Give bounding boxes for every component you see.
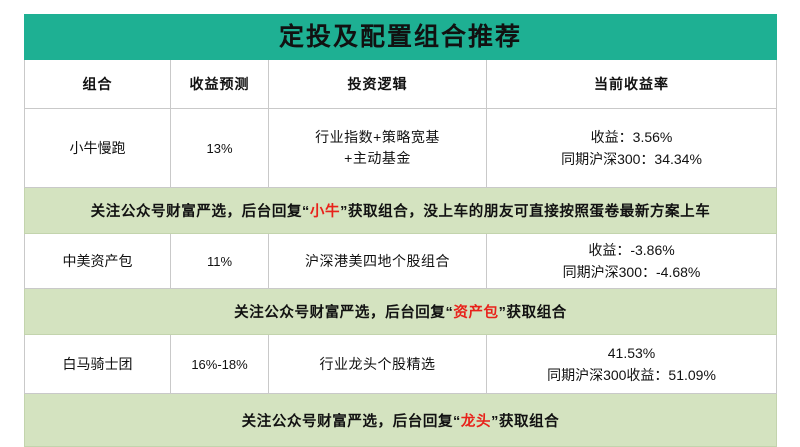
banner-keyword: 小牛 — [310, 204, 340, 220]
banner-row: 关注公众号财富严选，后台回复“资产包”获取组合 — [25, 289, 777, 335]
recommendation-table-container: 定投及配置组合推荐 组合 收益预测 投资逻辑 当前收益率 小牛慢跑 13% 行业… — [24, 14, 776, 447]
banner-row: 关注公众号财富严选，后台回复“小牛”获取组合，没上车的朋友可直接按照蛋卷最新方案… — [25, 188, 777, 234]
banner-row: 关注公众号财富严选，后台回复“龙头”获取组合 — [25, 394, 777, 447]
banner-keyword: 龙头 — [461, 414, 491, 430]
recommendation-table: 定投及配置组合推荐 组合 收益预测 投资逻辑 当前收益率 小牛慢跑 13% 行业… — [24, 14, 777, 447]
cell-current-yield: 收益：3.56% 同期沪深300：34.34% — [487, 109, 777, 188]
banner-prefix: 关注公众号财富严选，后台回复“ — [91, 204, 310, 220]
banner-suffix: ”获取组合 — [491, 414, 559, 430]
cell-logic: 行业指数+策略宽基 +主动基金 — [269, 109, 487, 188]
banner-prefix: 关注公众号财富严选，后台回复“ — [242, 414, 461, 430]
banner-prefix: 关注公众号财富严选，后台回复“ — [234, 305, 453, 321]
yield-line-2: 同期沪深300：34.34% — [487, 148, 776, 170]
table-row: 小牛慢跑 13% 行业指数+策略宽基 +主动基金 收益：3.56% 同期沪深30… — [25, 109, 777, 188]
yield-line-1: 41.53% — [487, 342, 776, 364]
cell-forecast: 13% — [171, 109, 269, 188]
banner-suffix: ”获取组合 — [499, 305, 567, 321]
banner-callout-2: 关注公众号财富严选，后台回复“资产包”获取组合 — [25, 289, 777, 335]
banner-suffix: ”获取组合，没上车的朋友可直接按照蛋卷最新方案上车 — [340, 204, 710, 220]
page-title: 定投及配置组合推荐 — [25, 15, 777, 60]
banner-keyword: 资产包 — [453, 305, 498, 321]
yield-line-2: 同期沪深300收益：51.09% — [487, 364, 776, 386]
cell-logic: 行业龙头个股精选 — [269, 335, 487, 394]
cell-forecast: 16%-18% — [171, 335, 269, 394]
yield-line-2: 同期沪深300：-4.68% — [487, 261, 776, 283]
cell-portfolio-name: 白马骑士团 — [25, 335, 171, 394]
banner-callout-1: 关注公众号财富严选，后台回复“小牛”获取组合，没上车的朋友可直接按照蛋卷最新方案… — [25, 188, 777, 234]
logic-line-1: 行业指数+策略宽基 — [269, 127, 486, 148]
column-header-portfolio: 组合 — [25, 60, 171, 109]
title-row: 定投及配置组合推荐 — [25, 15, 777, 60]
table-row: 中美资产包 11% 沪深港美四地个股组合 收益：-3.86% 同期沪深300：-… — [25, 234, 777, 289]
cell-portfolio-name: 中美资产包 — [25, 234, 171, 289]
cell-forecast: 11% — [171, 234, 269, 289]
table-header-row: 组合 收益预测 投资逻辑 当前收益率 — [25, 60, 777, 109]
cell-current-yield: 41.53% 同期沪深300收益：51.09% — [487, 335, 777, 394]
yield-line-1: 收益：3.56% — [487, 126, 776, 148]
column-header-current-yield: 当前收益率 — [487, 60, 777, 109]
column-header-logic: 投资逻辑 — [269, 60, 487, 109]
page-root: 定投及配置组合推荐 组合 收益预测 投资逻辑 当前收益率 小牛慢跑 13% 行业… — [0, 0, 800, 447]
logic-line-2: +主动基金 — [269, 148, 486, 169]
cell-logic: 沪深港美四地个股组合 — [269, 234, 487, 289]
table-row: 白马骑士团 16%-18% 行业龙头个股精选 41.53% 同期沪深300收益：… — [25, 335, 777, 394]
yield-line-1: 收益：-3.86% — [487, 239, 776, 261]
cell-current-yield: 收益：-3.86% 同期沪深300：-4.68% — [487, 234, 777, 289]
banner-callout-3: 关注公众号财富严选，后台回复“龙头”获取组合 — [25, 394, 777, 447]
column-header-forecast: 收益预测 — [171, 60, 269, 109]
cell-portfolio-name: 小牛慢跑 — [25, 109, 171, 188]
